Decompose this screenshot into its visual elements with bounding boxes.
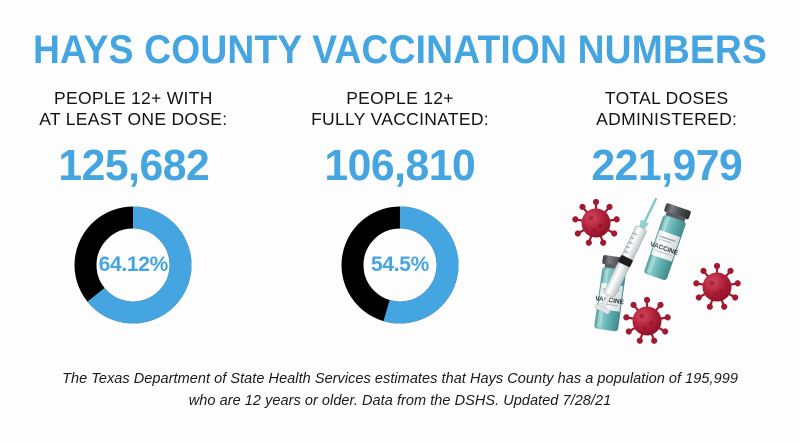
stat-label: PEOPLE 12+ FULLY VACCINATED: [311,88,489,130]
page-title: HAYS COUNTY VACCINATION NUMBERS [28,28,772,73]
stats-columns: PEOPLE 12+ WITH AT LEAST ONE DOSE: 125,6… [0,88,800,348]
donut-center-label: 64.12% [71,203,195,327]
vaccine-illustration-svg: VACCINE VACCINE [559,195,774,345]
stat-column-fully-vaccinated: PEOPLE 12+ FULLY VACCINATED: 106,810 54.… [267,88,534,348]
stat-label: PEOPLE 12+ WITH AT LEAST ONE DOSE: [39,88,227,130]
stat-label: TOTAL DOSES ADMINISTERED: [596,88,737,130]
stat-value: 106,810 [325,141,476,191]
infographic-canvas: HAYS COUNTY VACCINATION NUMBERS PEOPLE 1… [0,0,800,443]
donut-center-label: 54.5% [338,203,462,327]
virus-particle-icon [623,297,672,345]
vaccine-illustration: VACCINE VACCINE [559,195,774,345]
stat-column-total-doses: TOTAL DOSES ADMINISTERED: 221,979 [533,88,800,348]
stat-value: 125,682 [58,141,209,191]
stat-column-at-least-one-dose: PEOPLE 12+ WITH AT LEAST ONE DOSE: 125,6… [0,88,267,348]
donut-chart-at-least-one-dose: 64.12% [71,203,195,327]
footnote-text: The Texas Department of State Health Ser… [50,368,750,412]
donut-chart-fully-vaccinated: 54.5% [338,203,462,327]
virus-particle-icon [693,263,742,311]
virus-particle-icon [572,199,621,247]
stat-value: 221,979 [591,141,742,191]
